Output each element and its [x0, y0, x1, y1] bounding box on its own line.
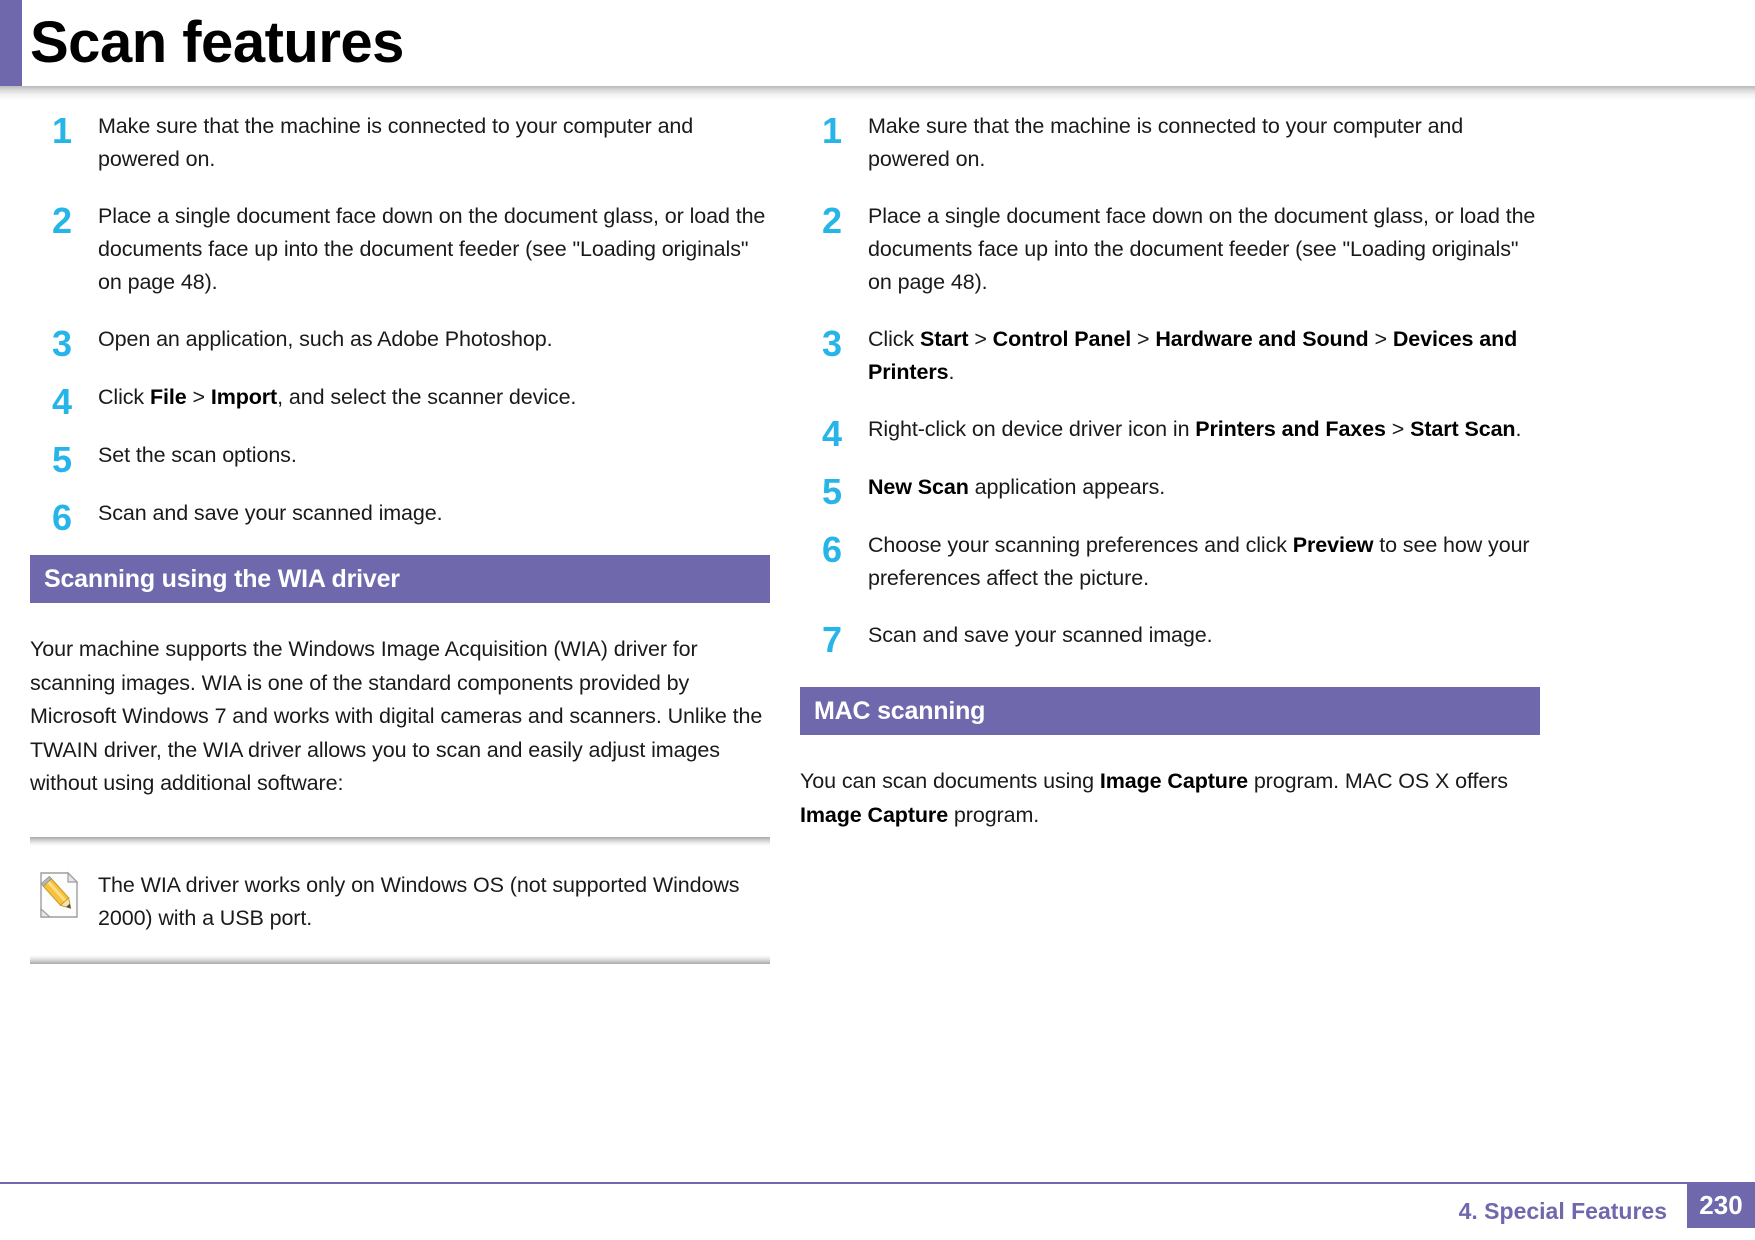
step-number: 4 — [822, 415, 856, 453]
step-text: New Scan application appears. — [868, 475, 1165, 499]
note-text: The WIA driver works only on Windows OS … — [98, 869, 758, 936]
step-number: 7 — [822, 621, 856, 659]
step-text: Place a single document face down on the… — [868, 204, 1535, 294]
step-item: 6Scan and save your scanned image. — [30, 497, 770, 531]
step-item: 6Choose your scanning preferences and cl… — [800, 529, 1540, 595]
step-item: 3Open an application, such as Adobe Phot… — [30, 323, 770, 357]
section-banner-wia: Scanning using the WIA driver — [30, 555, 770, 603]
step-item: 4Right-click on device driver icon in Pr… — [800, 413, 1540, 447]
step-text: Place a single document face down on the… — [98, 204, 765, 294]
step-number: 1 — [822, 112, 856, 150]
left-steps-list: 1Make sure that the machine is connected… — [30, 110, 770, 531]
page-title: Scan features — [30, 2, 404, 84]
step-text: Make sure that the machine is connected … — [98, 114, 693, 171]
step-text: Set the scan options. — [98, 443, 297, 467]
step-number: 3 — [52, 325, 86, 363]
step-number: 2 — [52, 202, 86, 240]
step-item: 1Make sure that the machine is connected… — [800, 110, 1540, 176]
step-text: Scan and save your scanned image. — [868, 623, 1213, 647]
step-text: Make sure that the machine is connected … — [868, 114, 1463, 171]
step-item: 2Place a single document face down on th… — [30, 200, 770, 299]
step-item: 2Place a single document face down on th… — [800, 200, 1540, 299]
section-banner-mac: MAC scanning — [800, 687, 1540, 735]
step-text: Choose your scanning preferences and cli… — [868, 533, 1529, 590]
note-box: The WIA driver works only on Windows OS … — [30, 837, 770, 964]
step-number: 5 — [52, 441, 86, 479]
step-number: 5 — [822, 473, 856, 511]
page-header: Scan features — [0, 0, 1755, 92]
step-item: 1Make sure that the machine is connected… — [30, 110, 770, 176]
step-item: 3Click Start > Control Panel > Hardware … — [800, 323, 1540, 389]
step-number: 3 — [822, 325, 856, 363]
step-item: 7Scan and save your scanned image. — [800, 619, 1540, 653]
step-item: 4Click File > Import, and select the sca… — [30, 381, 770, 415]
title-divider-shadow — [0, 86, 1755, 100]
step-text: Right-click on device driver icon in Pri… — [868, 417, 1521, 441]
section-banner-mac-label: MAC scanning — [814, 687, 985, 735]
title-accent-bar — [0, 0, 22, 92]
right-steps-list: 1Make sure that the machine is connected… — [800, 110, 1540, 653]
step-text: Open an application, such as Adobe Photo… — [98, 327, 553, 351]
left-column: 1Make sure that the machine is connected… — [30, 110, 770, 964]
step-item: 5New Scan application appears. — [800, 471, 1540, 505]
step-text: Scan and save your scanned image. — [98, 501, 443, 525]
note-bottom-rule — [30, 955, 770, 964]
footer-chapter-label: 4. Special Features — [1459, 1192, 1667, 1230]
footer-divider — [0, 1182, 1755, 1184]
step-text: Click File > Import, and select the scan… — [98, 385, 576, 409]
step-number: 2 — [822, 202, 856, 240]
section-banner-wia-label: Scanning using the WIA driver — [44, 555, 400, 603]
right-column: 1Make sure that the machine is connected… — [800, 110, 1540, 850]
note-top-rule — [30, 837, 770, 846]
step-text: Click Start > Control Panel > Hardware a… — [868, 327, 1517, 384]
footer-page-number: 230 — [1687, 1182, 1755, 1228]
step-number: 1 — [52, 112, 86, 150]
page-footer: 4. Special Features 230 — [0, 1182, 1755, 1240]
step-number: 6 — [822, 531, 856, 569]
wia-description-paragraph: Your machine supports the Windows Image … — [30, 633, 770, 801]
note-pencil-page-icon — [38, 871, 80, 919]
mac-description-paragraph: You can scan documents using Image Captu… — [800, 765, 1540, 832]
step-number: 4 — [52, 383, 86, 421]
step-number: 6 — [52, 499, 86, 537]
step-item: 5Set the scan options. — [30, 439, 770, 473]
